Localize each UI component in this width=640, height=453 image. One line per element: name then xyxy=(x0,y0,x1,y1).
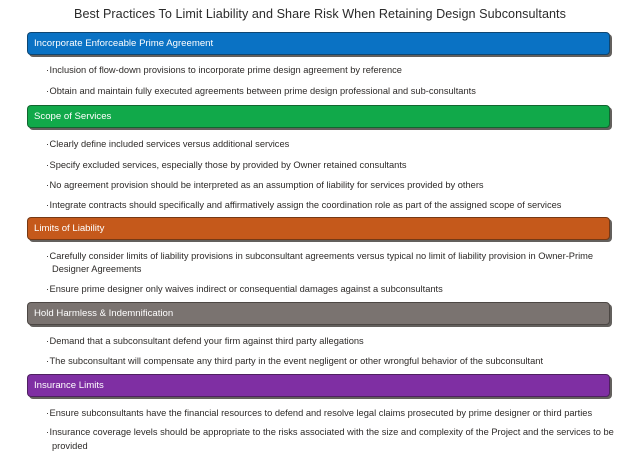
spacer xyxy=(0,128,640,134)
section-header-band-4[interactable]: Hold Harmless & Indemnification xyxy=(27,302,610,325)
bullet-text: Demand that a subconsultant defend your … xyxy=(50,336,364,346)
band-wrap-2: Scope of Services xyxy=(0,105,640,128)
section-hold-harmless-indemnification: Hold Harmless & Indemnification ·Demand … xyxy=(0,302,640,368)
bullet-list-4: ·Demand that a subconsultant defend your… xyxy=(0,335,640,368)
bullet-text: Ensure subconsultants have the financial… xyxy=(50,408,593,418)
bullet-item: ·Insurance coverage levels should be app… xyxy=(0,426,640,452)
spacer xyxy=(0,98,640,105)
spacer xyxy=(0,397,640,403)
bullet-item: ·No agreement provision should be interp… xyxy=(0,179,640,192)
section-heading-1: Incorporate Enforceable Prime Agreement xyxy=(28,39,213,49)
bullet-text: Inclusion of flow-down provisions to inc… xyxy=(50,65,402,75)
bullet-list-1: ·Inclusion of flow-down provisions to in… xyxy=(0,64,640,98)
bullet-item: ·Ensure subconsultants have the financia… xyxy=(0,407,640,420)
bullet-item: ·Inclusion of flow-down provisions to in… xyxy=(0,64,640,77)
section-list: Incorporate Enforceable Prime Agreement … xyxy=(0,32,640,453)
bullet-text: The subconsultant will compensate any th… xyxy=(50,356,544,366)
band-wrap-3: Limits of Liability xyxy=(0,217,640,240)
bullet-text: Integrate contracts should specifically … xyxy=(50,200,562,210)
bullet-list-3: ·Carefully consider limits of liability … xyxy=(0,250,640,296)
bullet-item: ·Integrate contracts should specifically… xyxy=(0,199,640,212)
section-insurance-limits: Insurance Limits ·Ensure subconsultants … xyxy=(0,374,640,453)
bullet-text: Carefully consider limits of liability p… xyxy=(50,251,594,274)
bullet-list-2: ·Clearly define included services versus… xyxy=(0,138,640,212)
bullet-item: ·Obtain and maintain fully executed agre… xyxy=(0,85,640,98)
slide-title: Best Practices To Limit Liability and Sh… xyxy=(0,7,640,21)
bullet-text: Obtain and maintain fully executed agree… xyxy=(50,86,476,96)
band-wrap-5: Insurance Limits xyxy=(0,374,640,397)
bullet-text: Clearly define included services versus … xyxy=(50,139,290,149)
section-header-band-5[interactable]: Insurance Limits xyxy=(27,374,610,397)
section-scope-of-services: Scope of Services ·Clearly define includ… xyxy=(0,105,640,212)
bullet-text: Insurance coverage levels should be appr… xyxy=(50,427,614,450)
bullet-item: ·The subconsultant will compensate any t… xyxy=(0,355,640,368)
spacer xyxy=(0,55,640,64)
section-heading-5: Insurance Limits xyxy=(28,381,104,391)
bullet-list-5: ·Ensure subconsultants have the financia… xyxy=(0,407,640,453)
section-heading-2: Scope of Services xyxy=(28,112,111,122)
band-wrap-1: Incorporate Enforceable Prime Agreement xyxy=(0,32,640,55)
section-incorporate-enforceable-prime-agreement: Incorporate Enforceable Prime Agreement … xyxy=(0,32,640,98)
band-wrap-4: Hold Harmless & Indemnification xyxy=(0,302,640,325)
bullet-text: No agreement provision should be interpr… xyxy=(50,180,484,190)
bullet-text: Ensure prime designer only waives indire… xyxy=(50,284,443,294)
spacer xyxy=(0,240,640,246)
section-limits-of-liability: Limits of Liability ·Carefully consider … xyxy=(0,217,640,296)
bullet-item: ·Ensure prime designer only waives indir… xyxy=(0,283,640,296)
section-header-band-1[interactable]: Incorporate Enforceable Prime Agreement xyxy=(27,32,610,55)
slide-canvas: Best Practices To Limit Liability and Sh… xyxy=(0,0,640,441)
section-header-band-3[interactable]: Limits of Liability xyxy=(27,217,610,240)
section-heading-4: Hold Harmless & Indemnification xyxy=(28,309,173,319)
bullet-item: ·Demand that a subconsultant defend your… xyxy=(0,335,640,348)
bullet-item: ·Specify excluded services, especially t… xyxy=(0,159,640,172)
bullet-item: ·Clearly define included services versus… xyxy=(0,138,640,151)
bullet-text: Specify excluded services, especially th… xyxy=(50,160,407,170)
section-header-band-2[interactable]: Scope of Services xyxy=(27,105,610,128)
spacer xyxy=(0,325,640,330)
bullet-item: ·Carefully consider limits of liability … xyxy=(0,250,640,276)
section-heading-3: Limits of Liability xyxy=(28,224,104,234)
